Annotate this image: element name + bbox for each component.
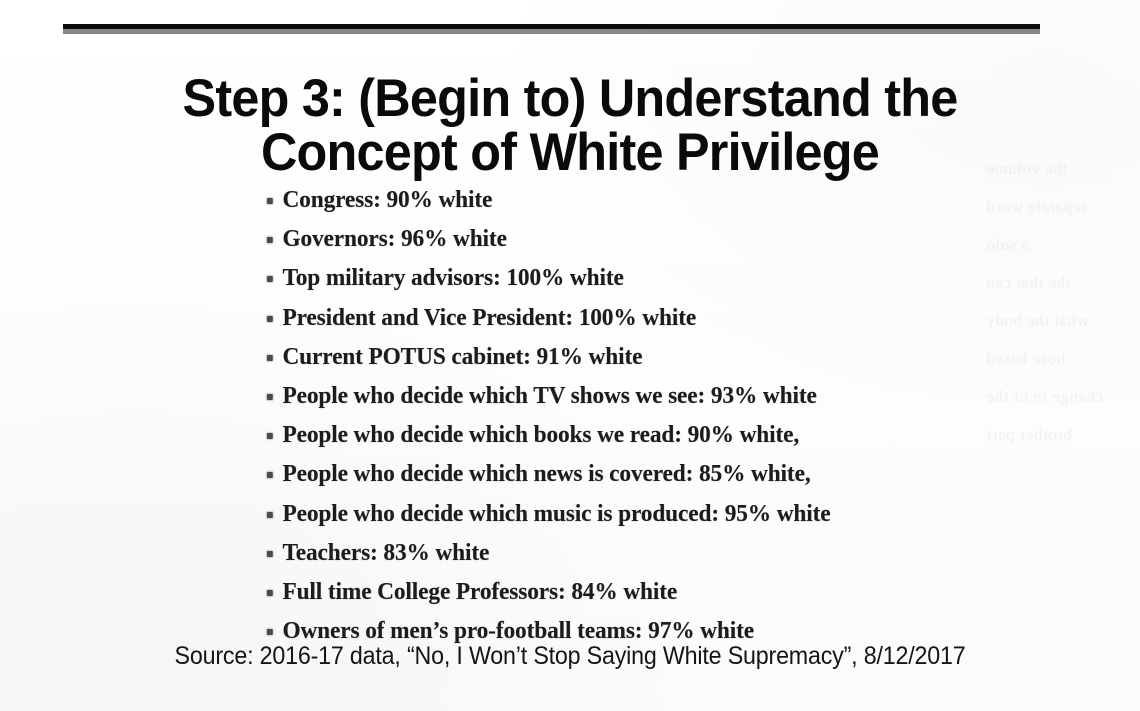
page-title-line-1: Step 3: (Begin to) Understand the [29,72,1112,126]
list-item-label: People who decide which music is produce… [282,496,830,532]
slide-canvas: the volume separate word a solo the that… [0,0,1140,711]
source-citation: Source: 2016-17 data, “No, I Won’t Stop … [40,641,1100,671]
bullet-marker-icon [267,551,273,557]
page-title-line-2: Concept of White Privilege [29,126,1112,180]
bullet-marker-icon [267,394,273,400]
list-item: People who decide which TV shows we see:… [265,378,1041,417]
list-item-label: People who decide which books we read: 9… [282,417,799,453]
header-divider-rule [63,24,1040,29]
bullet-marker-icon [267,276,273,282]
list-item-label: Teachers: 83% white [282,535,489,571]
list-item: People who decide which books we read: 9… [265,417,1041,456]
list-item-label: Full time College Professors: 84% white [282,574,677,610]
list-item: Top military advisors: 100% white [265,260,1041,299]
list-item: Full time College Professors: 84% white [265,574,1041,613]
statistics-bullet-list: Congress: 90% whiteGovernors: 96% whiteT… [265,182,1065,652]
page-title: Step 3: (Begin to) Understand the Concep… [29,72,1112,180]
list-item: People who decide which news is covered:… [265,456,1041,495]
list-item: Current POTUS cabinet: 91% white [265,339,1041,378]
bullet-marker-icon [267,433,273,439]
list-item: Congress: 90% white [265,182,1041,221]
bullet-marker-icon [267,316,273,322]
list-item-label: Governors: 96% white [282,221,506,257]
list-item: Teachers: 83% white [265,535,1041,574]
list-item-label: Top military advisors: 100% white [282,260,623,296]
list-item-label: People who decide which TV shows we see:… [282,378,816,414]
bullet-marker-icon [267,355,273,361]
list-item-label: Congress: 90% white [282,182,492,218]
list-item: People who decide which music is produce… [265,496,1041,535]
bullet-marker-icon [267,590,273,596]
bullet-marker-icon [267,472,273,478]
list-item: President and Vice President: 100% white [265,300,1041,339]
bullet-marker-icon [267,237,273,243]
list-item-label: President and Vice President: 100% white [282,300,696,336]
bullet-marker-icon [267,629,273,635]
bullet-marker-icon [267,198,273,204]
list-item-label: People who decide which news is covered:… [282,456,810,492]
bullet-marker-icon [267,512,273,518]
list-item: Governors: 96% white [265,221,1041,260]
list-item-label: Current POTUS cabinet: 91% white [282,339,642,375]
